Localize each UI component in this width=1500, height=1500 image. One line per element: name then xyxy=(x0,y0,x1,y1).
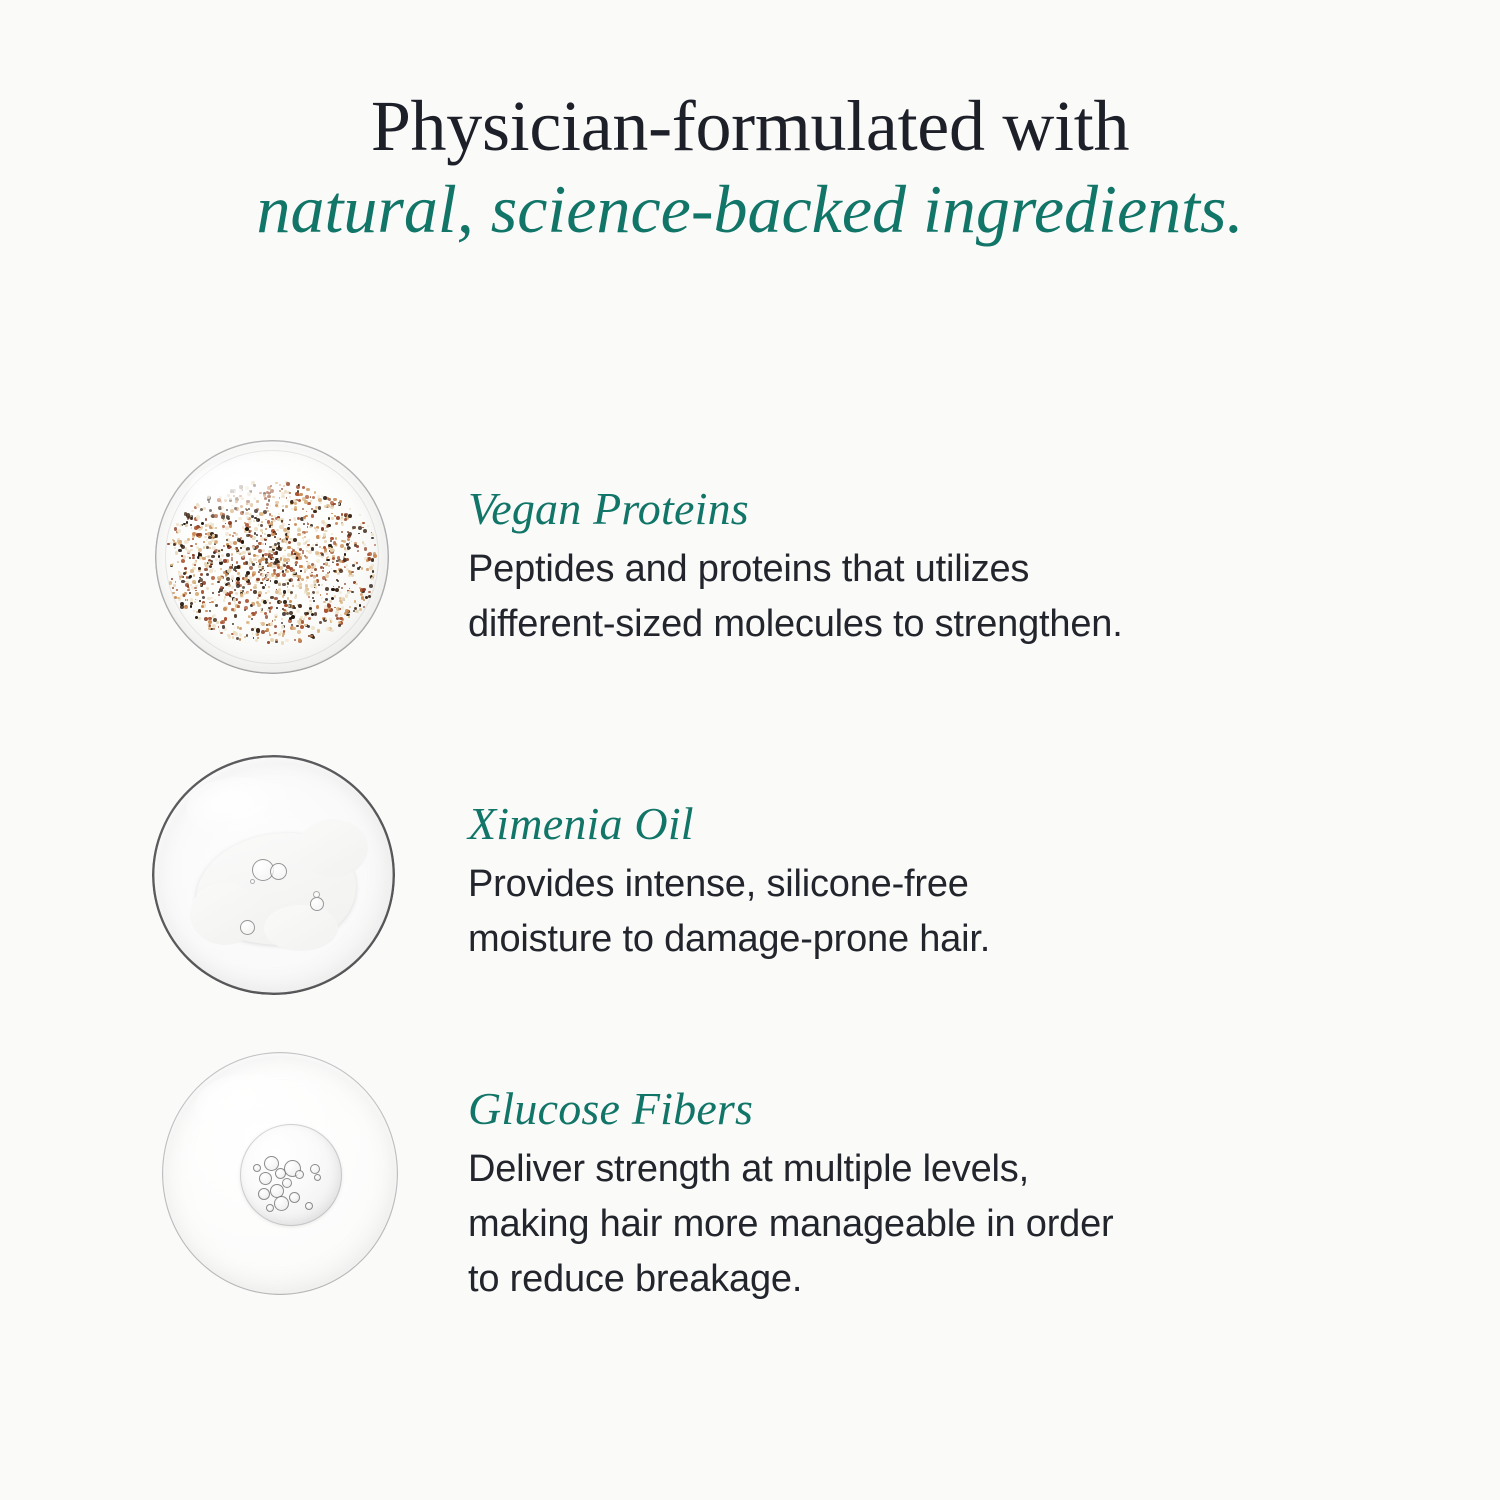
description-line: to reduce breakage. xyxy=(468,1252,1298,1307)
ingredient-item-ximenia-oil: Ximenia Oil Provides intense, silicone-f… xyxy=(0,735,1500,1040)
ingredient-benefits-panel: Physician-formulated with natural, scien… xyxy=(0,0,1500,1500)
ingredient-item-vegan-proteins: Vegan Proteins Peptides and proteins tha… xyxy=(0,430,1500,735)
ingredient-list: Vegan Proteins Peptides and proteins tha… xyxy=(0,430,1500,1345)
dish-rim xyxy=(152,755,395,995)
ingredient-text-cell: Vegan Proteins Peptides and proteins tha… xyxy=(468,430,1500,652)
ingredient-item-glucose-fibers: Glucose Fibers Deliver strength at multi… xyxy=(0,1040,1500,1345)
ingredient-description: Peptides and proteins that utilizes diff… xyxy=(468,542,1298,652)
description-line: Peptides and proteins that utilizes xyxy=(468,542,1298,597)
dish-rim xyxy=(162,1052,398,1295)
ingredient-image-cell xyxy=(0,430,468,730)
ingredient-text-cell: Ximenia Oil Provides intense, silicone-f… xyxy=(468,735,1500,967)
description-line: making hair more manageable in order xyxy=(468,1197,1298,1252)
description-line: Deliver strength at multiple levels, xyxy=(468,1142,1298,1197)
ingredient-image-cell xyxy=(0,1040,468,1340)
ingredient-name: Glucose Fibers xyxy=(468,1082,1500,1136)
description-line: different-sized molecules to strengthen. xyxy=(468,597,1298,652)
description-line: moisture to damage-prone hair. xyxy=(468,912,1298,967)
headline-line-2: natural, science-backed ingredients. xyxy=(0,166,1500,252)
ingredient-description: Provides intense, silicone-free moisture… xyxy=(468,857,1298,967)
petri-dish-gel-droplet-icon xyxy=(162,1052,398,1295)
ingredient-name: Vegan Proteins xyxy=(468,482,1500,536)
ingredient-name: Ximenia Oil xyxy=(468,797,1500,851)
ingredient-image-cell xyxy=(0,735,468,1035)
ingredient-text-cell: Glucose Fibers Deliver strength at multi… xyxy=(468,1040,1500,1307)
dish-rim xyxy=(155,440,389,674)
ingredient-description: Deliver strength at multiple levels, mak… xyxy=(468,1142,1298,1307)
headline-line-1: Physician-formulated with xyxy=(0,86,1500,166)
description-line: Provides intense, silicone-free xyxy=(468,857,1298,912)
petri-dish-oil-blob-icon xyxy=(152,755,395,995)
petri-dish-quinoa-grains-icon xyxy=(155,440,389,674)
page-title: Physician-formulated with natural, scien… xyxy=(0,86,1500,252)
